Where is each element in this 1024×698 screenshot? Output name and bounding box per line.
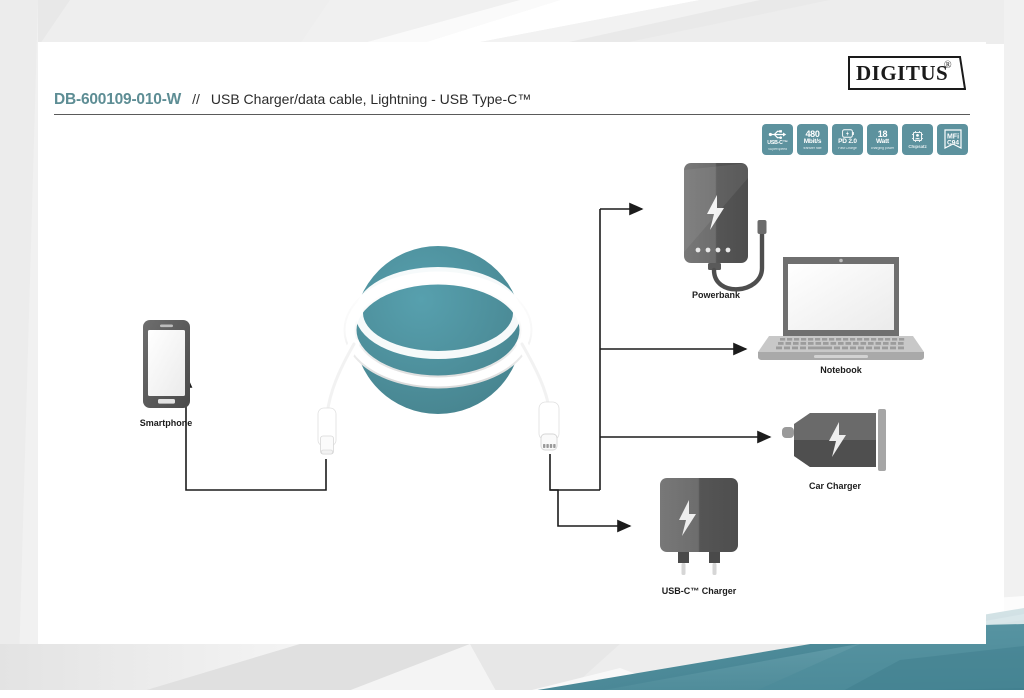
- device-label-smartphone: Smartphone: [140, 418, 193, 428]
- product-sheet-page: DIGITUS ® DB-600109-010-W // USB Charger…: [0, 0, 1024, 698]
- device-label-usbc-charger: USB-C™ Charger: [662, 586, 737, 596]
- device-car-charger: [782, 409, 886, 471]
- lightning-connector-icon: [318, 408, 336, 454]
- device-label-notebook: Notebook: [820, 365, 862, 375]
- device-notebook: [758, 257, 924, 360]
- device-powerbank: [684, 163, 767, 289]
- device-usbc-charger: [660, 478, 738, 575]
- device-label-powerbank: Powerbank: [692, 290, 741, 300]
- usb-c-connector-icon: [539, 402, 559, 450]
- connectivity-diagram: Smartphone Powerbank: [38, 42, 986, 644]
- cable-tail-left: [327, 344, 354, 414]
- device-label-car-charger: Car Charger: [809, 481, 862, 491]
- notebook-trackpad: [814, 355, 868, 358]
- product-coiled-cable: [318, 246, 559, 454]
- device-smartphone: [143, 320, 190, 408]
